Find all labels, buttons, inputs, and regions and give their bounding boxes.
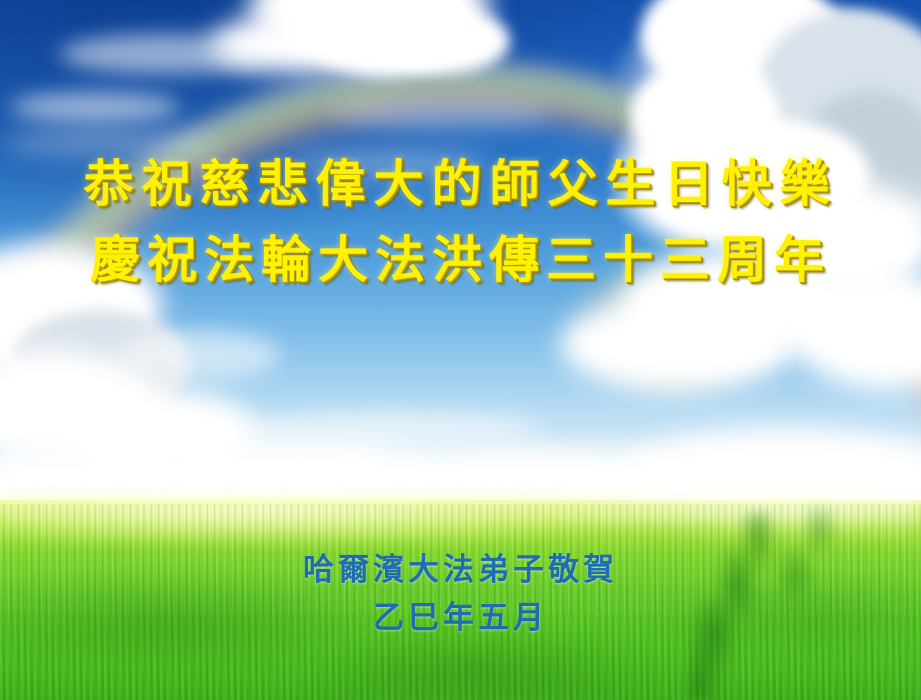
headline-line-1: 恭祝慈悲偉大的師父生日快樂 xyxy=(0,146,921,222)
signature-line-1: 哈爾濱大法弟子敬賀 xyxy=(0,546,921,594)
greeting-card: 恭祝慈悲偉大的師父生日快樂 慶祝法輪大法洪傳三十三周年 哈爾濱大法弟子敬賀 乙巳… xyxy=(0,0,921,700)
signature-block: 哈爾濱大法弟子敬賀 乙巳年五月 xyxy=(0,546,921,642)
cloud-wisp-top-left xyxy=(60,34,270,74)
cloud-right-h xyxy=(560,300,790,390)
cloud-wisp-upper-left xyxy=(10,92,180,122)
headline-block: 恭祝慈悲偉大的師父生日快樂 慶祝法輪大法洪傳三十三周年 xyxy=(0,146,921,298)
headline-line-2: 慶祝法輪大法洪傳三十三周年 xyxy=(0,222,921,298)
cloud-left-bank-f xyxy=(120,330,280,380)
cloud-top-center-c xyxy=(380,8,510,74)
cloud-wisp-upper-center xyxy=(330,96,550,130)
signature-line-2: 乙巳年五月 xyxy=(0,594,921,642)
